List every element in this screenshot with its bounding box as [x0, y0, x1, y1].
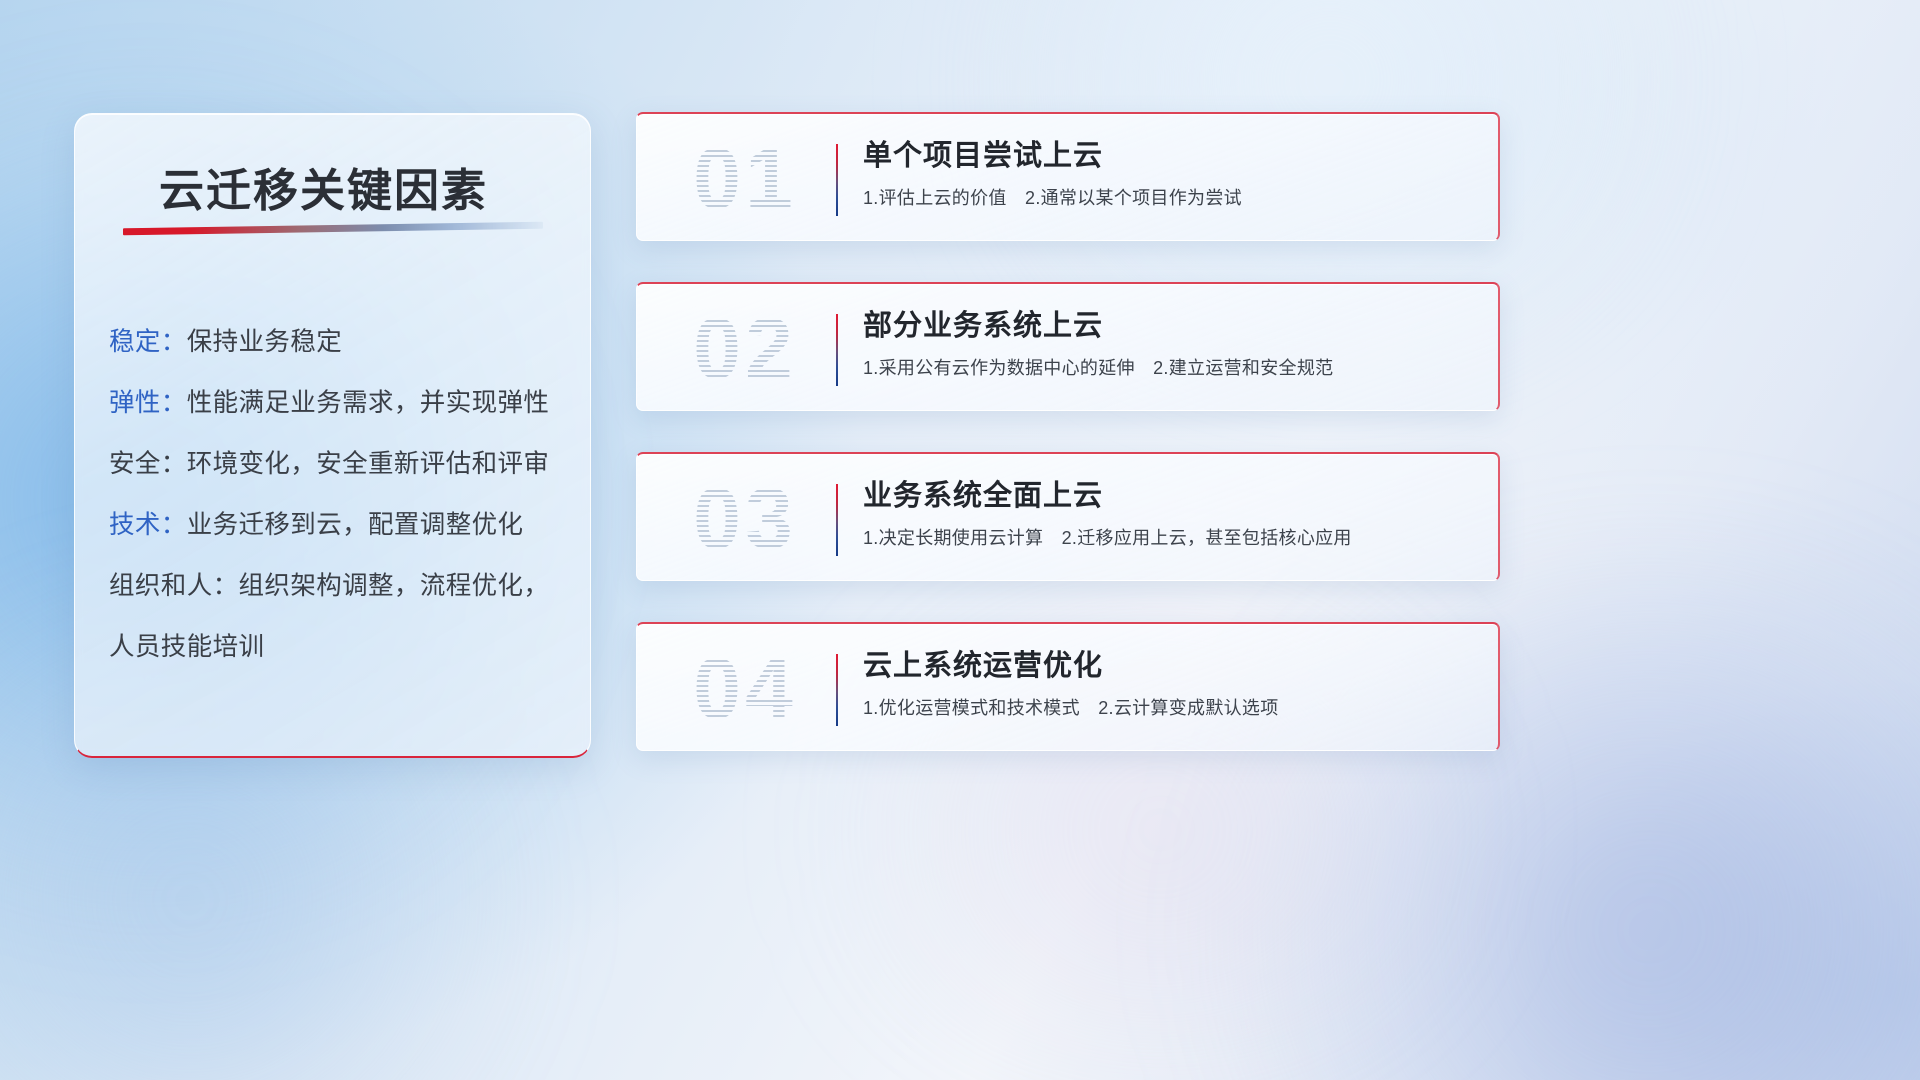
stage-description: 1.评估上云的价值 2.通常以某个项目作为尝试: [863, 185, 1480, 211]
page-title: 云迁移关键因素: [159, 154, 488, 219]
migration-stage-card[interactable]: 04云上系统运营优化1.优化运营模式和技术模式 2.云计算变成默认选项: [636, 622, 1500, 751]
key-factor-text: 组织架构调整，流程优化，: [239, 572, 550, 600]
migration-stage-card[interactable]: 03业务系统全面上云1.决定长期使用云计算 2.迁移应用上云，甚至包括核心应用: [636, 452, 1500, 581]
key-factor-label: 组织和人：: [109, 572, 239, 600]
stage-number: 03: [659, 465, 831, 573]
key-factor-row: 弹性：性能满足业务需求，并实现弹性: [109, 373, 568, 434]
stage-divider-accent: [836, 314, 838, 386]
stage-description: 1.优化运营模式和技术模式 2.云计算变成默认选项: [863, 695, 1480, 721]
stage-number: 04: [659, 635, 831, 743]
key-factor-row: 安全：环境变化，安全重新评估和评审: [109, 434, 568, 495]
key-factor-row: 稳定：保持业务稳定: [109, 312, 568, 373]
title-underline-accent: [123, 222, 543, 236]
stage-divider-accent: [836, 654, 838, 726]
key-factor-text: 环境变化，安全重新评估和评审: [187, 450, 550, 478]
key-factor-row: 技术：业务迁移到云，配置调整优化: [109, 495, 568, 556]
stage-divider-accent: [836, 144, 838, 216]
stage-body: 云上系统运营优化1.优化运营模式和技术模式 2.云计算变成默认选项: [863, 646, 1480, 721]
key-factor-label: 安全：: [109, 450, 187, 478]
stage-title: 部分业务系统上云: [863, 306, 1480, 346]
key-factors-list: 稳定：保持业务稳定弹性：性能满足业务需求，并实现弹性安全：环境变化，安全重新评估…: [109, 312, 568, 678]
stage-number: 01: [659, 125, 831, 233]
stage-description: 1.采用公有云作为数据中心的延伸 2.建立运营和安全规范: [863, 355, 1480, 381]
stage-divider-accent: [836, 484, 838, 556]
slide-canvas: 云迁移关键因素 稳定：保持业务稳定弹性：性能满足业务需求，并实现弹性安全：环境变…: [0, 0, 1920, 1080]
stage-title: 云上系统运营优化: [863, 646, 1480, 686]
key-factor-text: 人员技能培训: [109, 633, 264, 661]
migration-stage-list: 01单个项目尝试上云1.评估上云的价值 2.通常以某个项目作为尝试02部分业务系…: [636, 112, 1500, 792]
stage-body: 单个项目尝试上云1.评估上云的价值 2.通常以某个项目作为尝试: [863, 136, 1480, 211]
key-factor-text: 保持业务稳定: [187, 328, 342, 356]
stage-title: 业务系统全面上云: [863, 476, 1480, 516]
key-factor-label: 弹性：: [109, 389, 187, 417]
key-factor-row: 组织和人：组织架构调整，流程优化，: [109, 556, 568, 617]
key-factor-text: 性能满足业务需求，并实现弹性: [187, 389, 550, 417]
migration-stage-card[interactable]: 01单个项目尝试上云1.评估上云的价值 2.通常以某个项目作为尝试: [636, 112, 1500, 241]
stage-description: 1.决定长期使用云计算 2.迁移应用上云，甚至包括核心应用: [863, 525, 1480, 551]
migration-stage-card[interactable]: 02部分业务系统上云1.采用公有云作为数据中心的延伸 2.建立运营和安全规范: [636, 282, 1500, 411]
key-factors-panel: 云迁移关键因素 稳定：保持业务稳定弹性：性能满足业务需求，并实现弹性安全：环境变…: [74, 113, 591, 758]
stage-title: 单个项目尝试上云: [863, 136, 1480, 176]
stage-body: 业务系统全面上云1.决定长期使用云计算 2.迁移应用上云，甚至包括核心应用: [863, 476, 1480, 551]
key-factor-row: 人员技能培训: [109, 617, 568, 678]
stage-number: 02: [659, 295, 831, 403]
key-factor-label: 技术：: [109, 511, 187, 539]
stage-body: 部分业务系统上云1.采用公有云作为数据中心的延伸 2.建立运营和安全规范: [863, 306, 1480, 381]
key-factor-label: 稳定：: [109, 328, 187, 356]
key-factor-text: 业务迁移到云，配置调整优化: [187, 511, 524, 539]
